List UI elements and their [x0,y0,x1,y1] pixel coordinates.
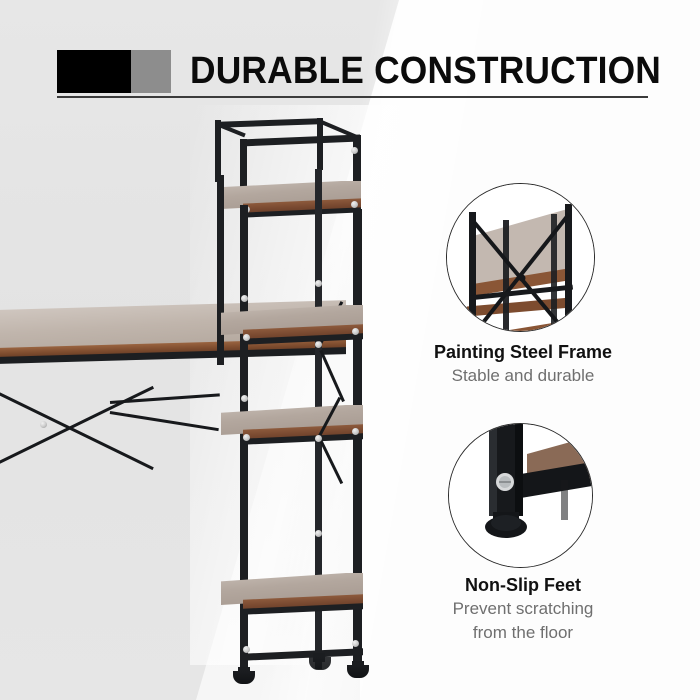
steel-frame-closeup-svg [447,184,594,331]
feature-1-subtitle: Stable and durable [373,364,673,388]
header-divider [57,96,648,98]
inset-2-artwork [449,424,592,567]
non-slip-foot-closeup-svg [449,424,592,567]
shelf-2-screw-left [243,334,250,341]
desk-brace-screw [40,421,47,428]
shelf-4-screw-left [243,646,250,653]
feature-1-caption: Painting Steel Frame Stable and durable [373,340,673,388]
non-slip-foot-front-right [347,665,369,678]
inset-painting-steel-frame [446,183,595,332]
feature-2-subtitle-2: from the floor [373,621,673,645]
post-screw-d [315,435,322,442]
desk-brace-diagonal-a [0,373,154,469]
feature-2-subtitle-1: Prevent scratching [373,597,673,621]
post-rear-left [217,175,224,365]
shelf-top-front-crossbar [240,134,360,146]
shelf-2-screw-right [352,328,359,335]
feature-2-caption: Non-Slip Feet Prevent scratching from th… [373,573,673,645]
header-accent-block-dark [57,50,131,93]
infographic-canvas: DURABLE CONSTRUCTION [0,0,700,700]
shelf-top-rear-crossbar [215,118,323,128]
non-slip-foot-rear-right [309,657,331,670]
page-title: DURABLE CONSTRUCTION [190,47,661,95]
shelf-tower [205,105,365,685]
post-screw-e [315,530,322,537]
post-screw-b [241,395,248,402]
post-screw-c [315,280,322,287]
shelf-3-screw-right [352,428,359,435]
feature-2-title: Non-Slip Feet [373,573,673,597]
shelf-3-screw-left [243,434,250,441]
side-brace-upper-screw [315,341,322,348]
inset-1-artwork [447,184,594,331]
feature-1-title: Painting Steel Frame [373,340,673,364]
shelf-4-screw-right [352,640,359,647]
bottom-rail [243,648,363,660]
header-accent-block-gray [131,50,171,93]
shelf-top-rear-post-right [317,118,323,170]
shelf-top-rear-post-left [215,120,221,182]
non-slip-foot-front-left [233,671,255,684]
shelf-1-screw-top-right [351,147,358,154]
side-brace-upper-b [320,350,345,402]
shelf-1-screw-right [351,201,358,208]
post-screw-a [241,295,248,302]
product-photo [0,105,400,700]
side-brace-mid-b [320,440,343,484]
inset-non-slip-feet [448,423,593,568]
